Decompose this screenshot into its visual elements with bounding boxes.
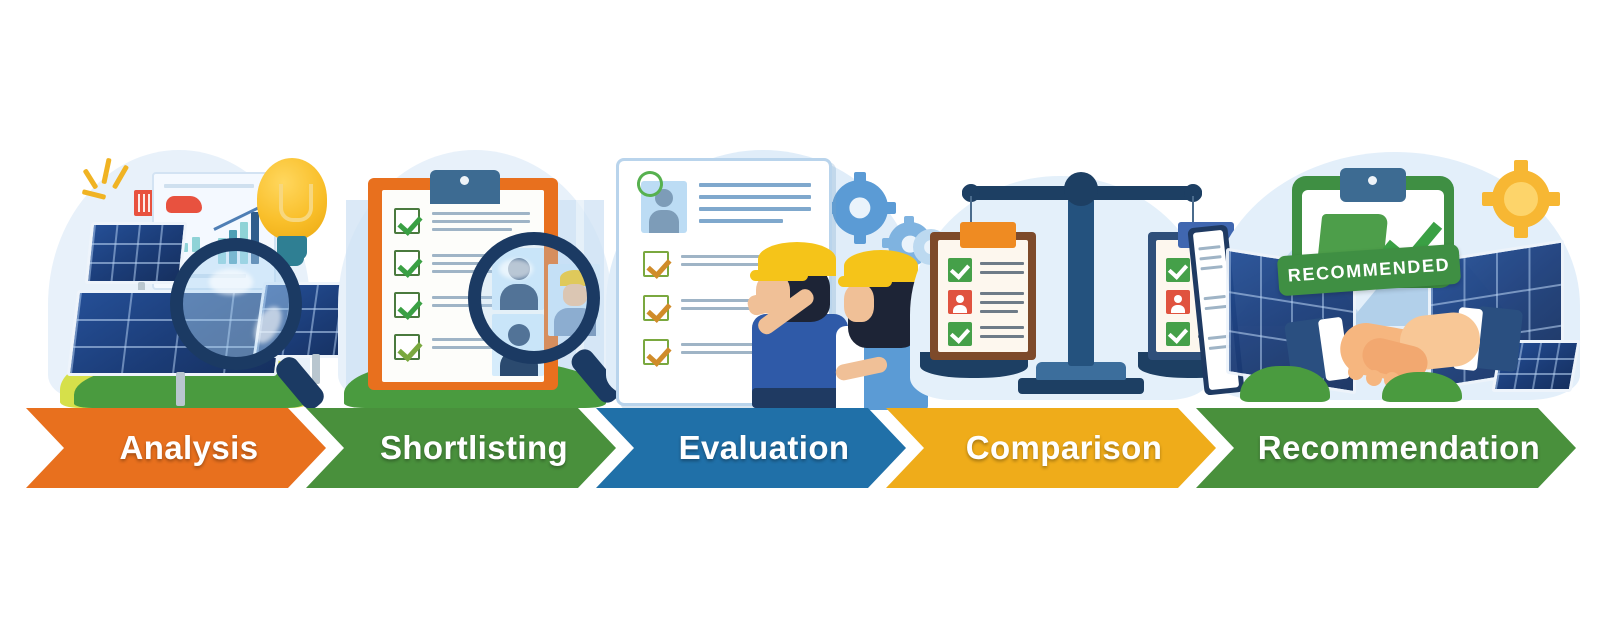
badge-clip-hole	[1368, 176, 1377, 185]
check-icon-green	[948, 322, 972, 346]
check-icon-green	[1166, 258, 1190, 282]
scale-pivot	[1064, 172, 1098, 206]
step-label-analysis: Analysis	[26, 429, 326, 467]
scene-evaluation	[596, 0, 926, 420]
scale-base	[1018, 378, 1144, 394]
step-arrow-recommendation[interactable]: Recommendation	[1196, 408, 1576, 488]
recommended-label: RECOMMENDED	[1287, 254, 1451, 286]
board-highlight-shape	[166, 196, 202, 213]
doc-text-line	[699, 207, 811, 211]
badge-clip-icon	[1340, 168, 1406, 202]
illustration-band: RECOMMENDED	[0, 0, 1600, 420]
check-icon-green	[1166, 322, 1190, 346]
row-text-line	[980, 262, 1024, 265]
checkbox-item[interactable]	[394, 250, 420, 276]
scale-column	[1068, 198, 1094, 366]
scene-recommendation: RECOMMENDED	[1196, 0, 1596, 420]
checkbox-item[interactable]	[394, 334, 420, 360]
checkbox-item[interactable]	[394, 208, 420, 234]
list-text-line	[432, 212, 530, 215]
step-label-shortlisting: Shortlisting	[306, 429, 616, 467]
doc-text-line	[699, 219, 783, 223]
board-text-line	[164, 184, 254, 188]
sun-ray	[1514, 224, 1528, 238]
step-arrow-analysis[interactable]: Analysis	[26, 408, 326, 488]
list-text-line	[432, 228, 512, 231]
sun-ray	[1514, 160, 1528, 174]
doc-text-line	[699, 195, 811, 199]
step-label-evaluation: Evaluation	[596, 429, 906, 467]
magnifying-glass-icon	[170, 238, 340, 408]
row-text-line	[980, 310, 1018, 313]
row-text-line	[980, 271, 1024, 274]
infographic-canvas: RECOMMENDED Analysis Shortlisting Evalua…	[0, 0, 1600, 627]
process-arrow-strip: Analysis Shortlisting Evaluation Compari…	[0, 408, 1600, 498]
checkbox-item[interactable]	[643, 251, 669, 277]
step-arrow-comparison[interactable]: Comparison	[886, 408, 1216, 488]
sun-gear-icon	[1492, 170, 1550, 228]
step-label-comparison: Comparison	[886, 429, 1216, 467]
clipboard-clip	[960, 222, 1016, 248]
spark-burst-icon	[82, 158, 142, 218]
list-text-line	[432, 220, 530, 223]
row-text-line	[980, 301, 1024, 304]
person-icon-red	[948, 290, 972, 314]
row-text-line	[980, 326, 1024, 329]
scene-shortlisting	[330, 0, 620, 420]
checkbox-item[interactable]	[643, 295, 669, 321]
clipboard-hole	[460, 176, 469, 185]
check-icon-green	[948, 258, 972, 282]
doc-text-line	[699, 183, 811, 187]
person-icon-red	[1166, 290, 1190, 314]
checkbox-item[interactable]	[643, 339, 669, 365]
row-text-line	[980, 292, 1024, 295]
scene-comparison	[906, 0, 1216, 420]
sun-ray	[1482, 192, 1496, 206]
sun-ray	[1546, 192, 1560, 206]
step-label-recommendation: Recommendation	[1196, 429, 1576, 467]
step-arrow-shortlisting[interactable]: Shortlisting	[306, 408, 616, 488]
step-arrow-evaluation[interactable]: Evaluation	[596, 408, 906, 488]
checkbox-item[interactable]	[394, 292, 420, 318]
row-text-line	[980, 335, 1024, 338]
scene-analysis	[30, 0, 330, 420]
comparison-clipboard-a	[930, 232, 1036, 360]
